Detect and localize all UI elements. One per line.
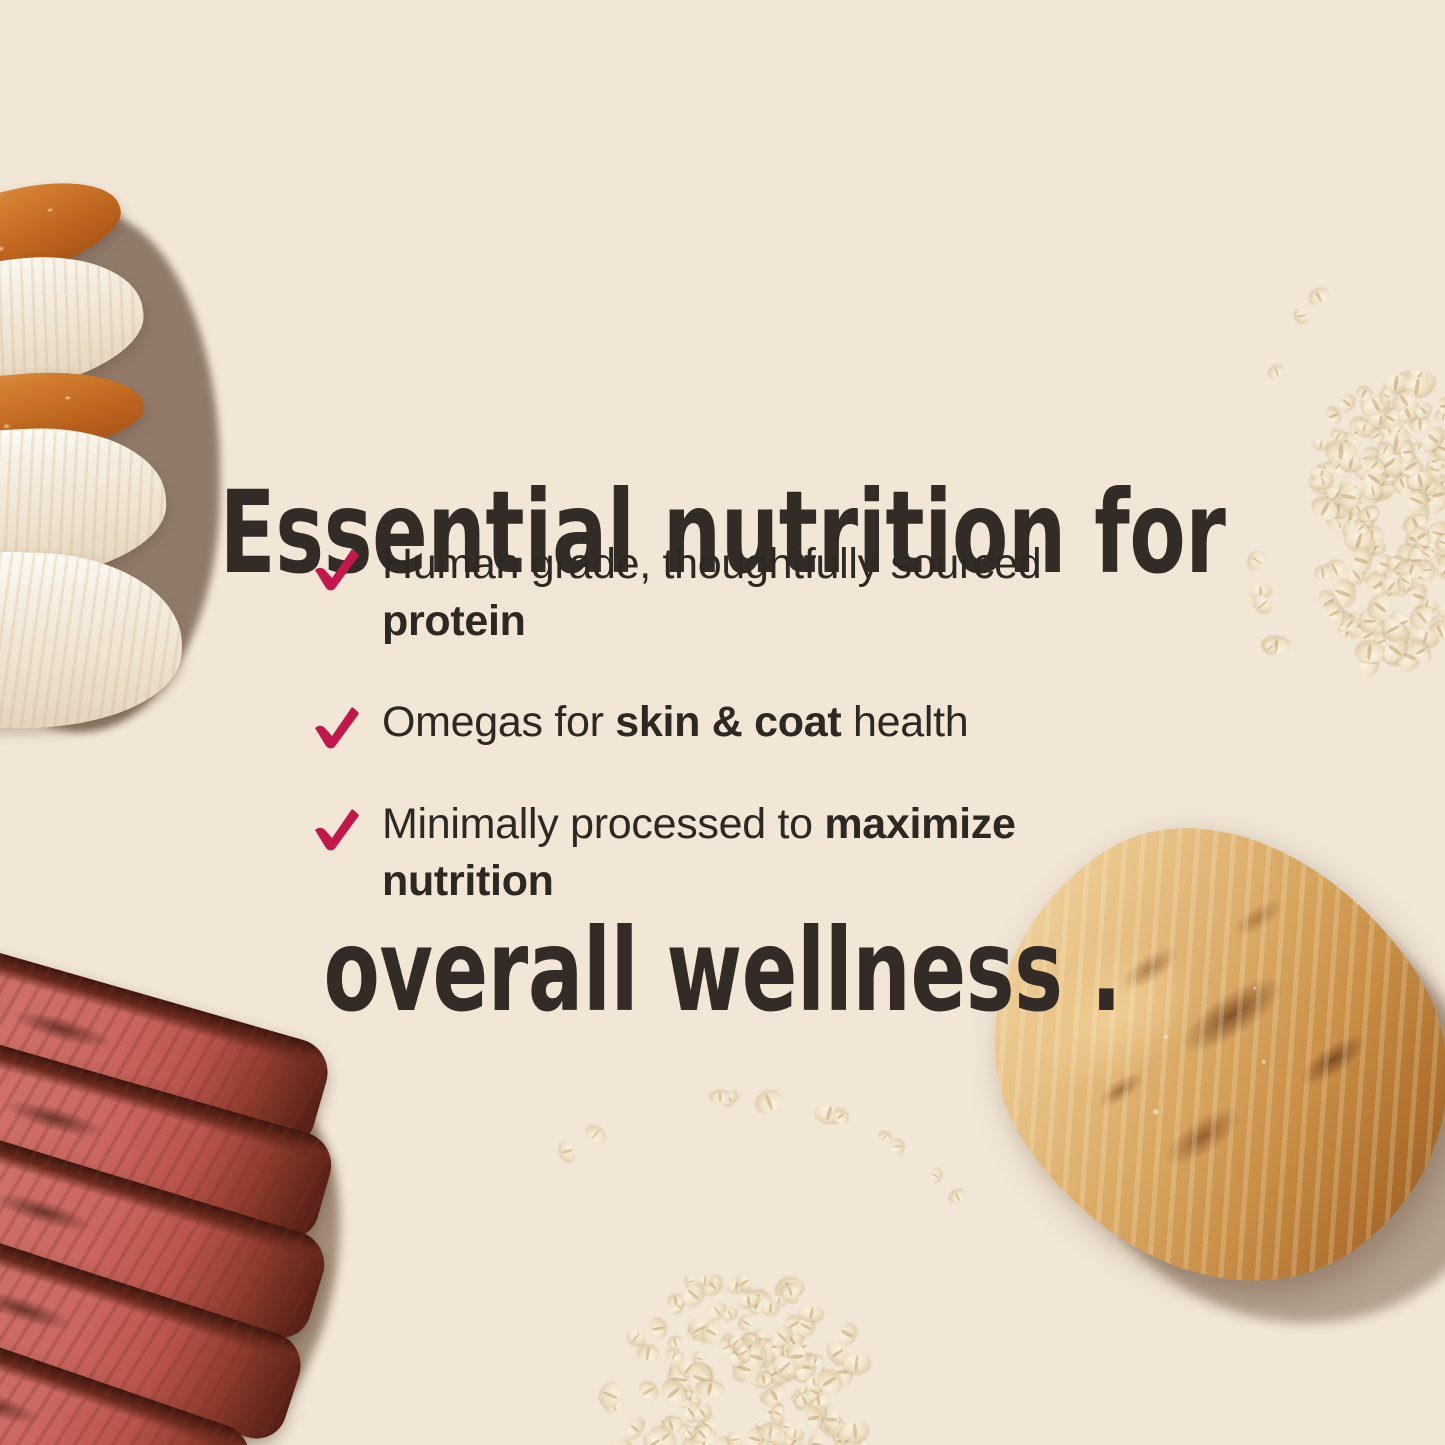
check-icon <box>312 704 362 750</box>
promo-banner: Essential nutrition for overall wellness… <box>0 0 1445 1445</box>
oat-flake <box>728 1430 745 1445</box>
oat-flake <box>809 1435 824 1445</box>
oat-flake <box>761 1300 779 1315</box>
oat-flake <box>890 1138 904 1154</box>
pork-meat-slice <box>0 546 185 734</box>
oat-flake <box>948 1188 968 1206</box>
list-item-label: Human grade, thoughtfully sourced protei… <box>382 536 1142 650</box>
check-icon <box>312 806 362 852</box>
oat-flake <box>736 1313 755 1334</box>
sliced-roast-pork-image <box>0 178 212 750</box>
oat-flake <box>649 1318 668 1340</box>
oat-flake <box>1335 391 1357 414</box>
list-item: Minimally processed to maximize nutritio… <box>312 796 1172 910</box>
oat-flake <box>1325 440 1355 463</box>
oat-flake <box>1294 306 1311 325</box>
oat-flake <box>583 1122 608 1147</box>
oat-flake <box>1313 565 1332 581</box>
oat-flake <box>1245 549 1268 573</box>
sliced-beef-steak-image <box>0 975 480 1445</box>
oat-flake <box>1435 563 1445 582</box>
list-item: Omegas for skin & coat health <box>312 694 1172 751</box>
rolled-oats-scatter-bottom <box>520 1070 950 1445</box>
benefits-list: Human grade, thoughtfully sourced protei… <box>312 536 1172 910</box>
oat-flake <box>622 1414 647 1441</box>
list-item-label: Minimally processed to maximize nutritio… <box>382 796 1142 910</box>
oat-flake <box>1306 285 1332 308</box>
rolled-oats-cluster-topright <box>1228 300 1445 710</box>
oat-flake <box>667 1335 683 1349</box>
list-item-label: Omegas for skin & coat health <box>382 694 968 751</box>
oat-flake <box>1266 364 1286 381</box>
oat-flake <box>752 1088 785 1118</box>
list-item: Human grade, thoughtfully sourced protei… <box>312 536 1172 650</box>
oat-flake <box>928 1166 944 1184</box>
check-icon <box>312 546 362 592</box>
oat-flake <box>635 1378 659 1403</box>
oat-flake <box>558 1139 577 1163</box>
